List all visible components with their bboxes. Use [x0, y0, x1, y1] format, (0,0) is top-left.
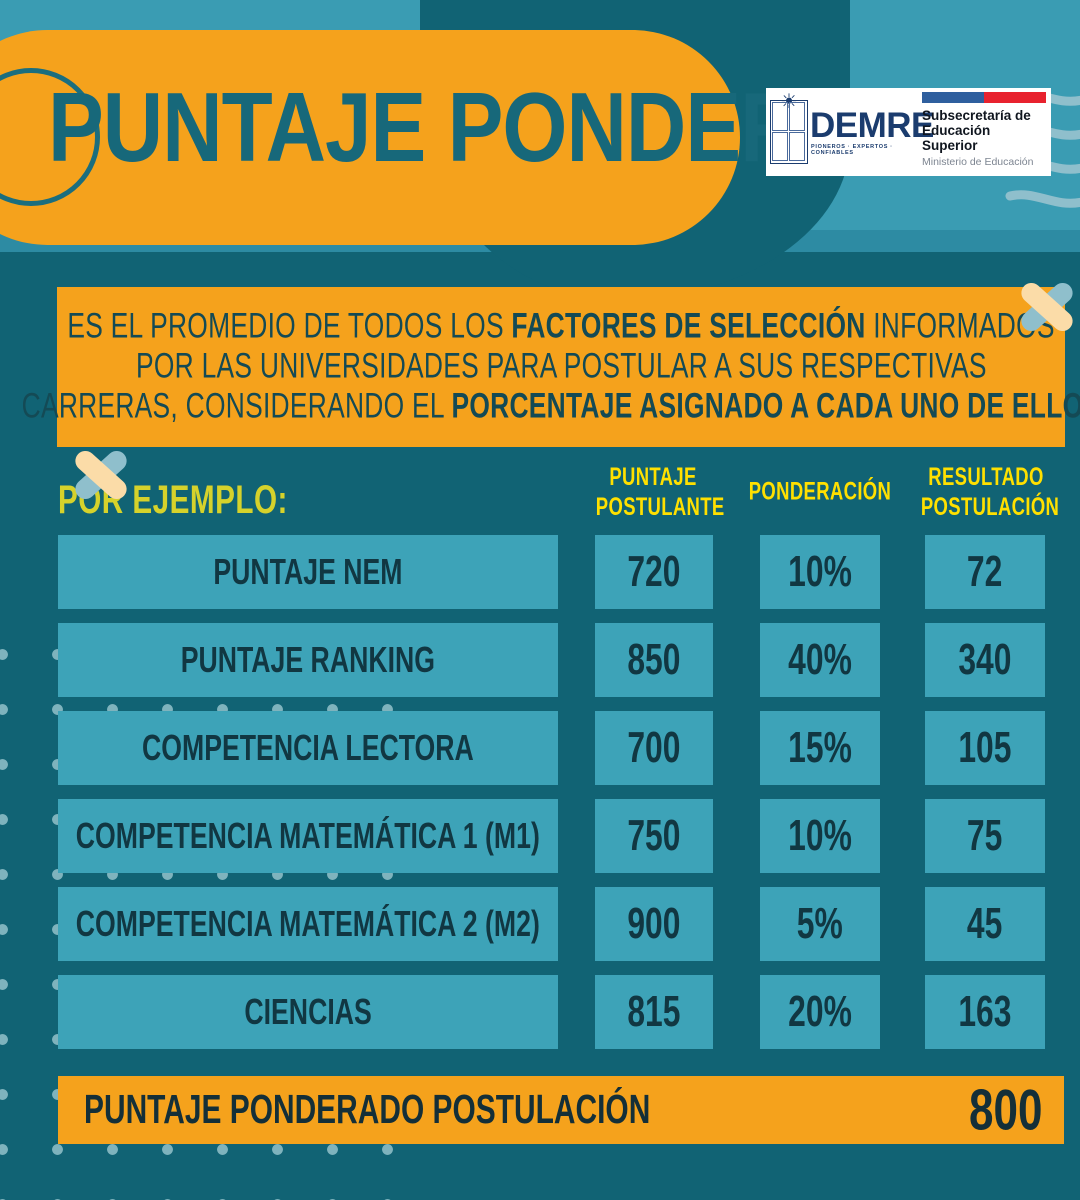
desc-1b: FACTORES DE SELECCIÓN: [511, 307, 865, 346]
description-banner: ES EL PROMEDIO DE TODOS LOS FACTORES DE …: [57, 287, 1065, 447]
row-weight: 10%: [760, 799, 880, 873]
row-factor: PUNTAJE RANKING: [58, 623, 558, 697]
column-header-score: PUNTAJE POSTULANTE: [596, 462, 710, 522]
row-factor: CIENCIAS: [58, 975, 558, 1049]
row-factor: PUNTAJE NEM: [58, 535, 558, 609]
desc-1a: ES EL PROMEDIO DE TODOS LOS: [67, 307, 511, 346]
description-line-3: CARRERAS, CONSIDERANDO EL PORCENTAJE ASI…: [21, 383, 1080, 430]
row-result: 72: [925, 535, 1045, 609]
row-factor: COMPETENCIA MATEMÁTICA 2 (M2): [58, 887, 558, 961]
infographic-poster: PUNTAJE PONDERADO ☀ DEMRE PIONEROS · EXP…: [0, 0, 1080, 1200]
row-score: 700: [595, 711, 713, 785]
table-column-headers: POR EJEMPLO: PUNTAJE POSTULANTE PONDERAC…: [0, 455, 1080, 535]
table-row: COMPETENCIA LECTORA 700 15% 105: [0, 711, 1080, 799]
total-bar: PUNTAJE PONDERADO POSTULACIÓN 800: [58, 1076, 1064, 1144]
row-weight: 20%: [760, 975, 880, 1049]
row-result: 75: [925, 799, 1045, 873]
demre-logo: ☀ DEMRE PIONEROS · EXPERTOS · CONFIABLES: [766, 88, 914, 176]
row-result: 105: [925, 711, 1045, 785]
desc-3a: CARRERAS, CONSIDERANDO EL: [21, 387, 451, 426]
column-header-result: RESULTADO POSTULACIÓN: [921, 462, 1051, 522]
total-label: PUNTAJE PONDERADO POSTULACIÓN: [84, 1087, 650, 1134]
row-weight: 15%: [760, 711, 880, 785]
table-row: PUNTAJE NEM 720 10% 72: [0, 535, 1080, 623]
row-score: 850: [595, 623, 713, 697]
row-weight: 10%: [760, 535, 880, 609]
column-header-score-line1: PUNTAJE: [596, 462, 710, 492]
row-factor: COMPETENCIA MATEMÁTICA 1 (M1): [58, 799, 558, 873]
ministry-line-1: Subsecretaría de: [922, 108, 1047, 123]
column-header-result-line1: RESULTADO: [921, 462, 1051, 492]
demre-ministry-logo: ☀ DEMRE PIONEROS · EXPERTOS · CONFIABLES…: [766, 88, 1051, 176]
row-score: 900: [595, 887, 713, 961]
column-header-score-line2: POSTULANTE: [596, 492, 710, 522]
row-result: 45: [925, 887, 1045, 961]
row-weight: 40%: [760, 623, 880, 697]
ministry-logo: Subsecretaría de Educación Superior Mini…: [914, 88, 1051, 176]
row-result: 340: [925, 623, 1045, 697]
chile-flag-icon: [922, 92, 1046, 103]
row-weight: 5%: [760, 887, 880, 961]
row-score: 750: [595, 799, 713, 873]
column-header-weight: PONDERACIÓN: [745, 477, 895, 507]
ministry-line-2: Educación Superior: [922, 123, 1047, 153]
row-score: 720: [595, 535, 713, 609]
cross-decoration-right: [1012, 272, 1080, 342]
row-score: 815: [595, 975, 713, 1049]
table-row: COMPETENCIA MATEMÁTICA 1 (M1) 750 10% 75: [0, 799, 1080, 887]
university-crest-icon: ☀: [770, 100, 808, 164]
total-value: 800: [969, 1077, 1042, 1144]
row-result: 163: [925, 975, 1045, 1049]
cross-decoration-left: [66, 440, 136, 510]
table-row: CIENCIAS 815 20% 163: [0, 975, 1080, 1063]
column-header-result-line2: POSTULACIÓN: [921, 492, 1051, 522]
table-row: PUNTAJE RANKING 850 40% 340: [0, 623, 1080, 711]
desc-3b: PORCENTAJE ASIGNADO A CADA UNO DE ELLOS: [451, 387, 1080, 426]
table-row: COMPETENCIA MATEMÁTICA 2 (M2) 900 5% 45: [0, 887, 1080, 975]
score-table: POR EJEMPLO: PUNTAJE POSTULANTE PONDERAC…: [0, 455, 1080, 1063]
row-factor: COMPETENCIA LECTORA: [58, 711, 558, 785]
ministry-line-3: Ministerio de Educación: [922, 156, 1047, 168]
